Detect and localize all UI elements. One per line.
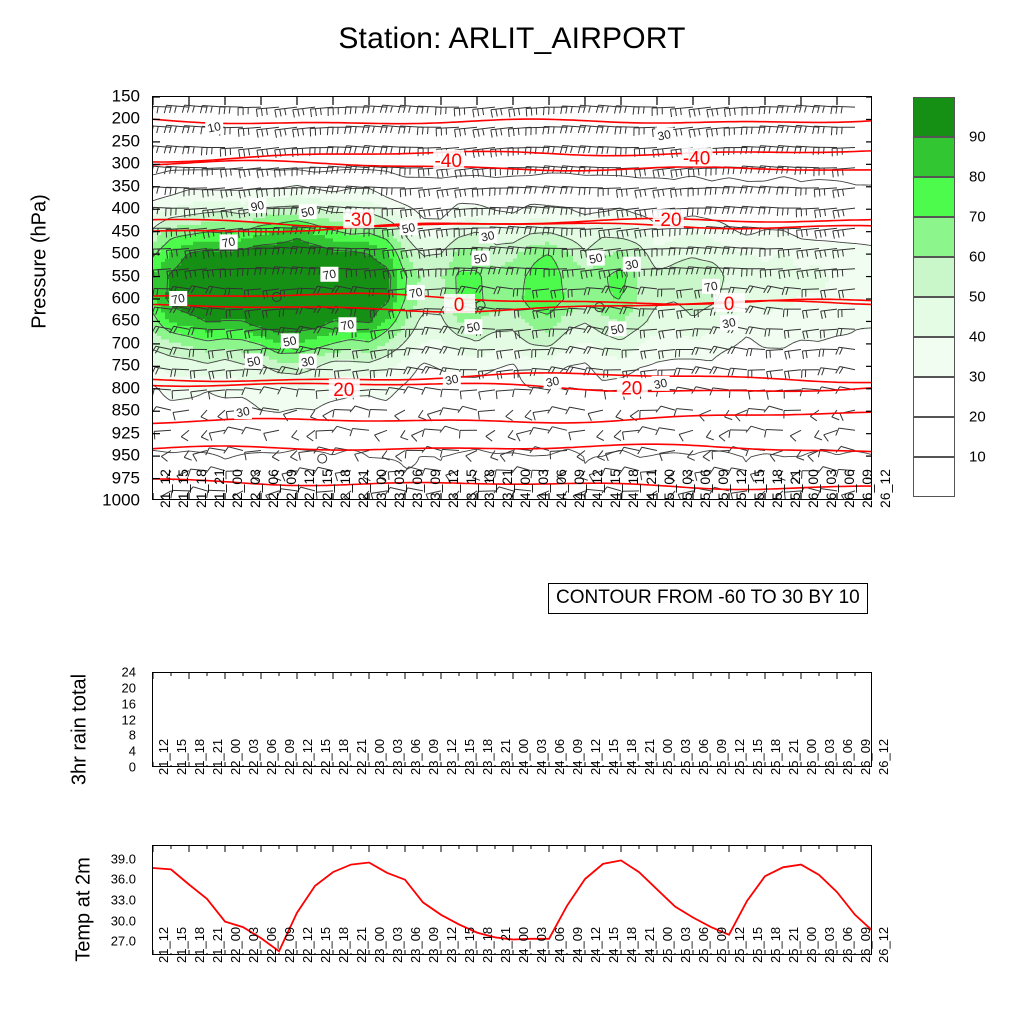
colorbar-tick-label: 90 (969, 130, 986, 145)
time-tick-label: 21_18 (193, 739, 207, 775)
time-tick-label: 22_12 (301, 739, 315, 775)
time-tick-label: 22_21 (356, 469, 370, 508)
rain-tick-label: 0 (0, 761, 136, 774)
time-tick-label: 22_21 (355, 927, 369, 963)
time-tick-label: 25_12 (734, 469, 748, 508)
time-tick-label: 26_03 (824, 469, 838, 508)
pressure-tick-label: 600 (112, 290, 140, 307)
cross-section-panel: -40-40-30-200020201090707050705050303030… (152, 96, 872, 500)
time-tick-label: 24_18 (625, 927, 639, 963)
time-tick-label: 23_09 (428, 469, 442, 508)
time-tick-label: 23_21 (499, 927, 513, 963)
time-tick-label: 23_15 (464, 469, 478, 508)
time-tick-label: 25_12 (733, 927, 747, 963)
time-tick-label: 25_15 (751, 739, 765, 775)
time-tick-label: 23_18 (481, 927, 495, 963)
time-tick-label: 25_00 (661, 739, 675, 775)
contour-legend-box: CONTOUR FROM -60 TO 30 BY 10 (548, 583, 868, 614)
time-tick-label: 24_00 (517, 739, 531, 775)
meteogram-page: Station: ARLIT_AIRPORT Pressure (hPa) 15… (0, 0, 1024, 1024)
time-tick-label: 24_00 (517, 927, 531, 963)
time-tick-label: 21_12 (157, 739, 171, 775)
time-tick-label: 25_15 (751, 927, 765, 963)
time-tick-label: 26_09 (859, 739, 873, 775)
rain-tick-label: 16 (0, 697, 136, 710)
time-tick-label: 21_21 (211, 739, 225, 775)
time-tick-label: 25_21 (788, 469, 802, 508)
time-tick-label: 24_06 (554, 469, 568, 508)
time-tick-label: 25_15 (752, 469, 766, 508)
time-tick-label: 23_00 (374, 469, 388, 508)
time-tick-label: 24_12 (589, 739, 603, 775)
time-tick-label: 24_06 (553, 739, 567, 775)
cross-section-frame: -40-40-30-200020201090707050705050303030… (152, 96, 872, 500)
pressure-tick-label: 200 (112, 110, 140, 127)
page-title: Station: ARLIT_AIRPORT (0, 22, 1024, 56)
colorbar-tick-label: 40 (969, 330, 986, 345)
time-tick-label: 22_06 (265, 927, 279, 963)
time-tick-label: 24_12 (590, 469, 604, 508)
time-tick-label: 25_09 (715, 739, 729, 775)
colorbar-tick-label: 20 (969, 410, 986, 425)
colorbar-tick-label: 80 (969, 170, 986, 185)
time-tick-label: 23_15 (463, 739, 477, 775)
time-tick-label: 21_12 (157, 927, 171, 963)
time-tick-label: 22_21 (355, 739, 369, 775)
time-tick-label: 23_09 (427, 739, 441, 775)
time-tick-label: 23_18 (482, 469, 496, 508)
time-tick-label: 25_03 (680, 469, 694, 508)
time-tick-label: 24_21 (644, 469, 658, 508)
time-tick-label: 24_09 (571, 927, 585, 963)
time-tick-label: 22_12 (301, 927, 315, 963)
time-tick-label: 26_06 (842, 469, 856, 508)
time-tick-label: 24_00 (518, 469, 532, 508)
time-tick-label: 21_18 (194, 469, 208, 508)
time-tick-label: 22_00 (229, 739, 243, 775)
time-tick-label: 25_18 (769, 927, 783, 963)
pressure-tick-label: 500 (112, 245, 140, 262)
time-tick-label: 25_09 (715, 927, 729, 963)
time-tick-label: 23_03 (392, 469, 406, 508)
time-tick-label: 21_21 (212, 469, 226, 508)
temp-tick-label: 33.0 (0, 894, 136, 907)
pressure-tick-label: 700 (112, 334, 140, 351)
colorbar: 102030405060708090 (913, 97, 955, 497)
time-tick-label: 23_03 (391, 927, 405, 963)
time-tick-label: 24_15 (608, 469, 622, 508)
time-tick-label: 25_03 (679, 739, 693, 775)
time-tick-label: 22_18 (338, 469, 352, 508)
pressure-tick-label: 150 (112, 88, 140, 105)
time-tick-label: 25_21 (787, 927, 801, 963)
time-tick-label: 22_09 (283, 739, 297, 775)
time-tick-label: 22_03 (247, 739, 261, 775)
time-tick-label: 26_03 (823, 739, 837, 775)
temp-tick-label: 36.0 (0, 873, 136, 886)
pressure-tick-label: 1000 (102, 492, 140, 509)
rain-tick-label: 24 (0, 666, 136, 679)
time-tick-label: 24_03 (536, 469, 550, 508)
colorbar-tick-label: 60 (969, 250, 986, 265)
colorbar-tick-label: 70 (969, 210, 986, 225)
cross-section-plot: -40-40-30-200020201090707050705050303030… (153, 97, 872, 500)
colorbar-swatch (913, 417, 955, 457)
time-tick-label: 24_06 (553, 927, 567, 963)
time-tick-label: 22_06 (265, 739, 279, 775)
time-tick-label: 23_00 (373, 739, 387, 775)
time-tick-label: 25_09 (716, 469, 730, 508)
time-tick-label: 25_18 (770, 469, 784, 508)
time-tick-label: 22_18 (337, 739, 351, 775)
time-tick-label: 23_06 (409, 927, 423, 963)
temp-tick-label: 27.0 (0, 935, 136, 948)
colorbar-swatch (913, 457, 955, 497)
time-tick-label: 24_18 (625, 739, 639, 775)
time-tick-label: 25_18 (769, 739, 783, 775)
time-tick-label: 23_21 (500, 469, 514, 508)
time-tick-label: 23_12 (445, 927, 459, 963)
temp-tick-label: 30.0 (0, 914, 136, 927)
time-tick-label: 21_18 (193, 927, 207, 963)
time-tick-label: 23_06 (410, 469, 424, 508)
colorbar-swatch (913, 377, 955, 417)
time-tick-label: 22_18 (337, 927, 351, 963)
time-tick-label: 24_09 (571, 739, 585, 775)
time-tick-label: 22_12 (302, 469, 316, 508)
time-tick-label: 25_06 (697, 739, 711, 775)
time-tick-label: 26_09 (859, 927, 873, 963)
colorbar-swatch (913, 297, 955, 337)
time-tick-label: 21_15 (176, 469, 190, 508)
colorbar-swatch (913, 257, 955, 297)
time-tick-label: 23_12 (446, 469, 460, 508)
colorbar-swatch (913, 177, 955, 217)
rain-tick-label: 20 (0, 681, 136, 694)
time-tick-label: 25_06 (697, 927, 711, 963)
time-tick-label: 23_03 (391, 739, 405, 775)
pressure-tick-label: 350 (112, 177, 140, 194)
time-tick-label: 24_12 (589, 927, 603, 963)
pressure-tick-label: 800 (112, 379, 140, 396)
pressure-tick-label: 750 (112, 357, 140, 374)
time-tick-label: 22_03 (248, 469, 262, 508)
colorbar-swatch (913, 97, 955, 137)
time-tick-label: 23_12 (445, 739, 459, 775)
time-tick-label: 22_09 (284, 469, 298, 508)
time-tick-label: 22_06 (266, 469, 280, 508)
pressure-tick-label: 975 (112, 469, 140, 486)
time-tick-label: 22_03 (247, 927, 261, 963)
time-tick-label: 26_00 (805, 739, 819, 775)
time-tick-label: 26_06 (841, 739, 855, 775)
colorbar-swatch (913, 137, 955, 177)
time-tick-label: 26_00 (806, 469, 820, 508)
time-tick-label: 23_00 (373, 927, 387, 963)
time-tick-label: 23_09 (427, 927, 441, 963)
time-tick-label: 22_15 (319, 927, 333, 963)
time-tick-label: 21_21 (211, 927, 225, 963)
pressure-axis-labels: 1502002503003504004505005506006507007508… (0, 96, 148, 500)
time-tick-label: 22_15 (319, 739, 333, 775)
time-tick-label: 25_21 (787, 739, 801, 775)
time-tick-label: 24_15 (607, 739, 621, 775)
time-tick-label: 26_12 (877, 739, 891, 775)
humidity-shading (153, 185, 872, 415)
rain-tick-label: 4 (0, 745, 136, 758)
pressure-tick-label: 550 (112, 267, 140, 284)
pressure-tick-label: 950 (112, 447, 140, 464)
time-tick-label: 26_00 (805, 927, 819, 963)
rain-tick-label: 12 (0, 713, 136, 726)
time-tick-label: 25_06 (698, 469, 712, 508)
time-tick-label: 26_12 (878, 469, 892, 508)
time-tick-label: 25_03 (679, 927, 693, 963)
pressure-tick-label: 400 (112, 200, 140, 217)
time-tick-label: 23_06 (409, 739, 423, 775)
time-tick-label: 25_00 (661, 927, 675, 963)
temp-x-axis-labels: 21_1221_1521_1821_2122_0022_0322_0622_09… (0, 0, 1024, 1)
time-tick-label: 24_21 (643, 739, 657, 775)
time-tick-label: 23_21 (499, 739, 513, 775)
pressure-tick-label: 250 (112, 132, 140, 149)
temp-tick-label: 39.0 (0, 852, 136, 865)
time-tick-label: 26_06 (841, 927, 855, 963)
time-tick-label: 24_09 (572, 469, 586, 508)
colorbar-swatch (913, 337, 955, 377)
pressure-tick-label: 650 (112, 312, 140, 329)
rain-tick-label: 8 (0, 729, 136, 742)
colorbar-tick-label: 50 (969, 290, 986, 305)
time-tick-label: 21_15 (175, 927, 189, 963)
pressure-tick-label: 925 (112, 424, 140, 441)
colorbar-tick-label: 30 (969, 370, 986, 385)
pressure-tick-label: 450 (112, 222, 140, 239)
colorbar-tick-label: 10 (969, 450, 986, 465)
time-tick-label: 22_00 (230, 469, 244, 508)
temp-panel-title: Temp at 2m (73, 820, 96, 1000)
time-tick-label: 26_09 (860, 469, 874, 508)
time-tick-label: 24_21 (643, 927, 657, 963)
colorbar-swatch (913, 217, 955, 257)
time-tick-label: 26_12 (877, 927, 891, 963)
time-tick-label: 23_18 (481, 739, 495, 775)
time-tick-label: 26_03 (823, 927, 837, 963)
time-tick-label: 24_03 (535, 739, 549, 775)
time-tick-label: 23_15 (463, 927, 477, 963)
time-tick-label: 24_18 (626, 469, 640, 508)
time-tick-label: 24_03 (535, 927, 549, 963)
time-tick-label: 21_12 (158, 469, 172, 508)
time-tick-label: 25_00 (662, 469, 676, 508)
time-tick-label: 22_09 (283, 927, 297, 963)
time-tick-label: 21_15 (175, 739, 189, 775)
pressure-tick-label: 850 (112, 402, 140, 419)
time-tick-label: 25_12 (733, 739, 747, 775)
time-tick-label: 22_00 (229, 927, 243, 963)
pressure-tick-label: 300 (112, 155, 140, 172)
time-tick-label: 24_15 (607, 927, 621, 963)
time-tick-label: 22_15 (320, 469, 334, 508)
